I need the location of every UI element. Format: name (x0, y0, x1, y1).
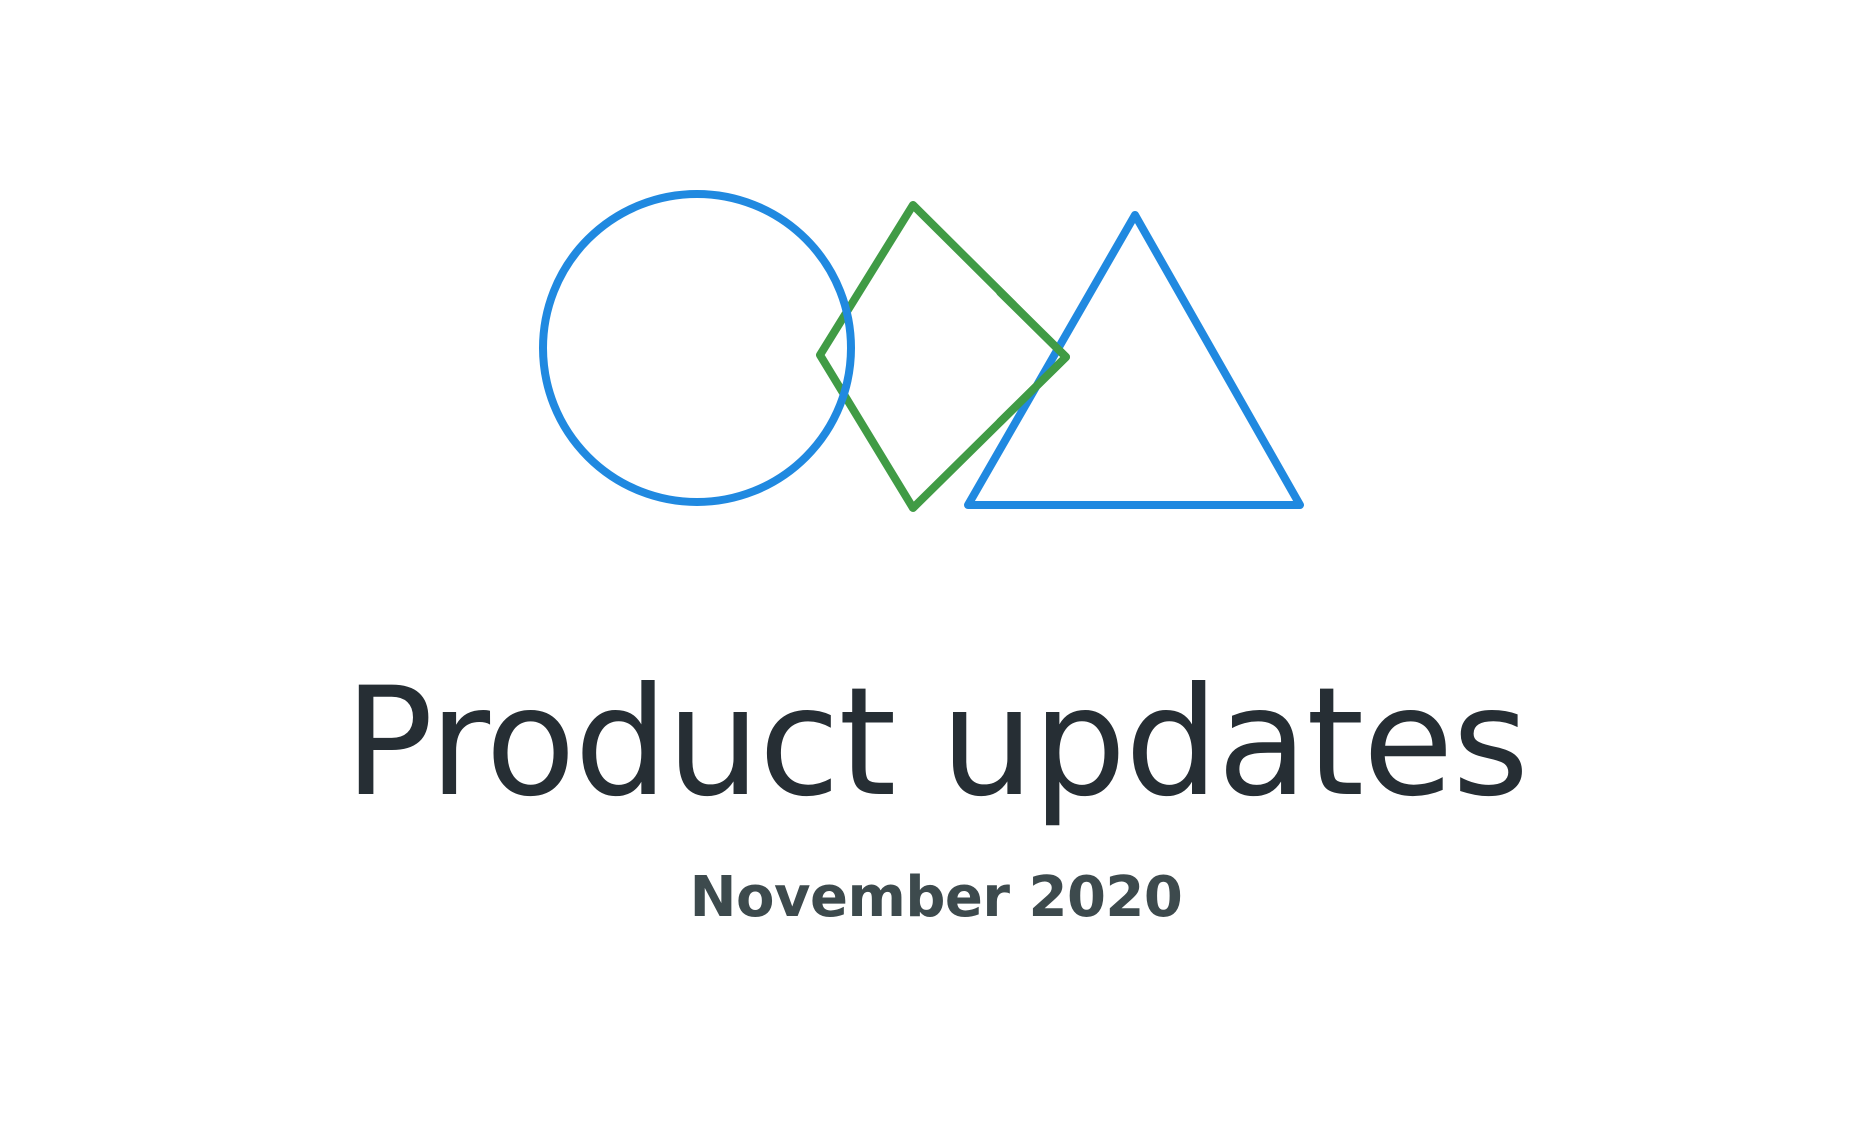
three-shapes-mark (0, 0, 1872, 560)
slide-canvas: Product updates November 2020 (0, 0, 1872, 1142)
diamond-shape (820, 205, 1066, 508)
circle-shape (543, 194, 851, 502)
triangle-shape (968, 215, 1300, 505)
page-subtitle: November 2020 (0, 870, 1872, 926)
page-title: Product updates (14, 668, 1858, 818)
